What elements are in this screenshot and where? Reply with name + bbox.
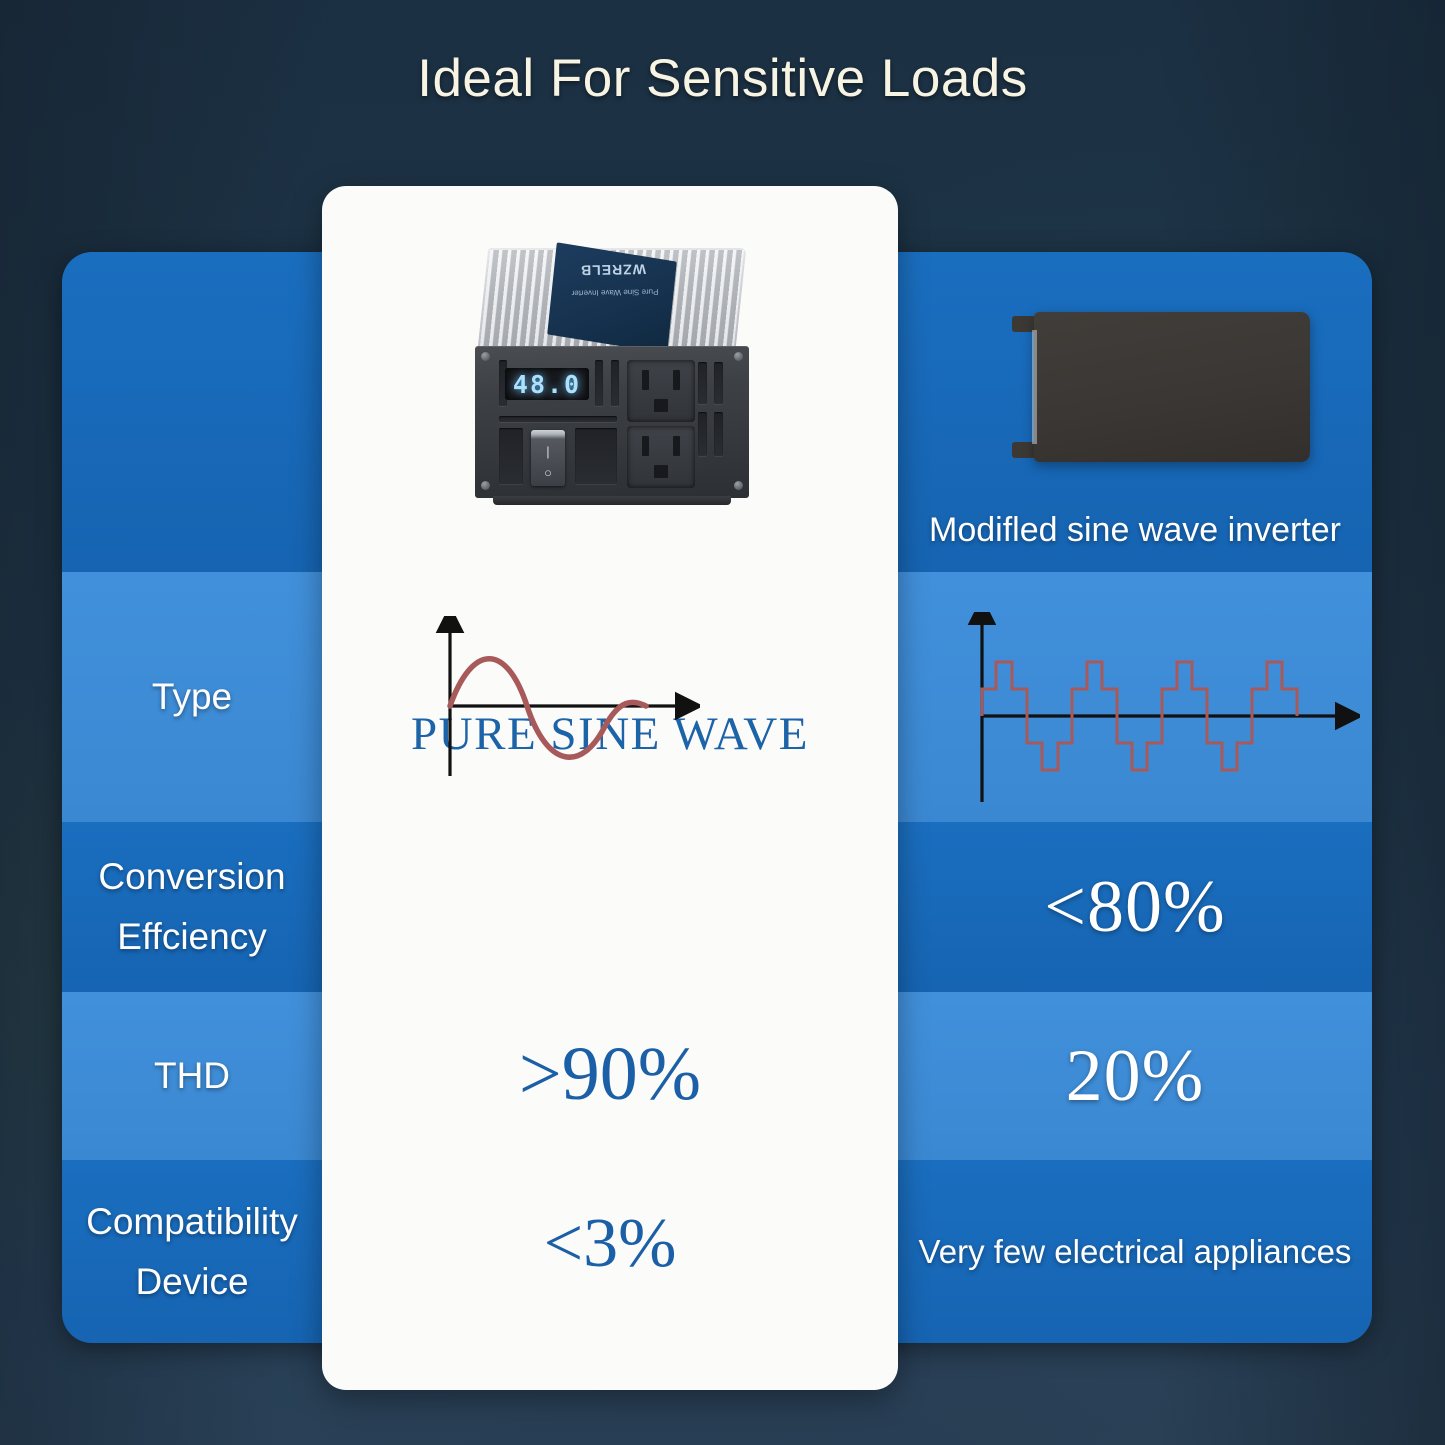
voltage-value: 48.0 <box>513 370 581 399</box>
outlet-slot-left <box>642 370 649 390</box>
power-switch[interactable]: | ○ <box>531 430 565 486</box>
modified-sine-waveform-chart <box>960 612 1360 812</box>
voltage-display: 48.0 <box>505 368 589 400</box>
card-value-compatibility-device: >99% <box>322 1382 898 1390</box>
inverter-base-foot <box>493 496 731 505</box>
page-title: Ideal For Sensitive Loads <box>0 48 1445 109</box>
screw-icon <box>734 352 743 361</box>
inverter-body <box>1034 312 1310 462</box>
power-off-icon: ○ <box>544 465 552 480</box>
inverter-edge-lip <box>1032 330 1037 444</box>
row-right-compatibility-device: Very few electrical appliances <box>898 1160 1372 1343</box>
inverter-front-panel: 48.0 | ○ <box>475 346 749 498</box>
row-label-line: Compatibility <box>86 1192 298 1252</box>
vent-slot <box>714 412 723 456</box>
inverter-brand-text: WZRELB <box>563 261 663 279</box>
row-label-line: Type <box>152 667 232 727</box>
inverter-label-subtext: Pure Sine Wave Inverter <box>567 285 663 299</box>
pure-sine-wave-path <box>450 659 646 757</box>
ac-outlet <box>627 360 695 422</box>
vent-slot <box>698 412 707 456</box>
row-label-type: Type <box>62 572 322 822</box>
pure-sine-wave-card: WZRELB Pure Sine Wave Inverter 48.0 | ○ <box>322 186 898 1390</box>
vent-slot <box>499 428 523 484</box>
card-value-conversion-efficiency: >90% <box>322 1031 898 1118</box>
outlet-slot-right <box>673 436 680 456</box>
ac-outlet <box>627 426 695 488</box>
row-label-thd: THD <box>62 992 322 1160</box>
pure-sine-waveform-chart <box>430 616 700 806</box>
power-on-icon: | <box>546 444 549 459</box>
screw-icon <box>734 481 743 490</box>
vent-slot <box>499 416 617 422</box>
vent-slot <box>611 360 619 406</box>
modified-sine-wave-inverter-image <box>1012 312 1310 462</box>
row-label-conversion-efficiency: Conversion Effciency <box>62 822 322 992</box>
row-right-conversion-efficiency: <80% <box>898 822 1372 992</box>
row-label-compatibility-device: Compatibility Device <box>62 1160 322 1343</box>
vent-slot <box>714 362 723 404</box>
header-label-cell <box>62 252 322 572</box>
screw-icon <box>481 481 490 490</box>
pure-sine-wave-inverter-image: WZRELB Pure Sine Wave Inverter 48.0 | ○ <box>467 248 757 508</box>
vent-slot <box>698 362 707 404</box>
screw-icon <box>481 352 490 361</box>
outlet-slot-right <box>673 370 680 390</box>
card-value-thd: <3% <box>322 1204 898 1284</box>
row-label-line: Device <box>135 1252 248 1312</box>
outlet-ground-slot <box>654 399 668 412</box>
row-label-line: Conversion <box>98 847 285 907</box>
outlet-ground-slot <box>654 465 668 478</box>
row-label-line: THD <box>154 1046 230 1106</box>
row-label-line: Effciency <box>117 907 266 967</box>
vent-slot <box>595 360 603 406</box>
row-right-thd: 20% <box>898 992 1372 1160</box>
vent-slot <box>575 428 617 484</box>
outlet-slot-left <box>642 436 649 456</box>
